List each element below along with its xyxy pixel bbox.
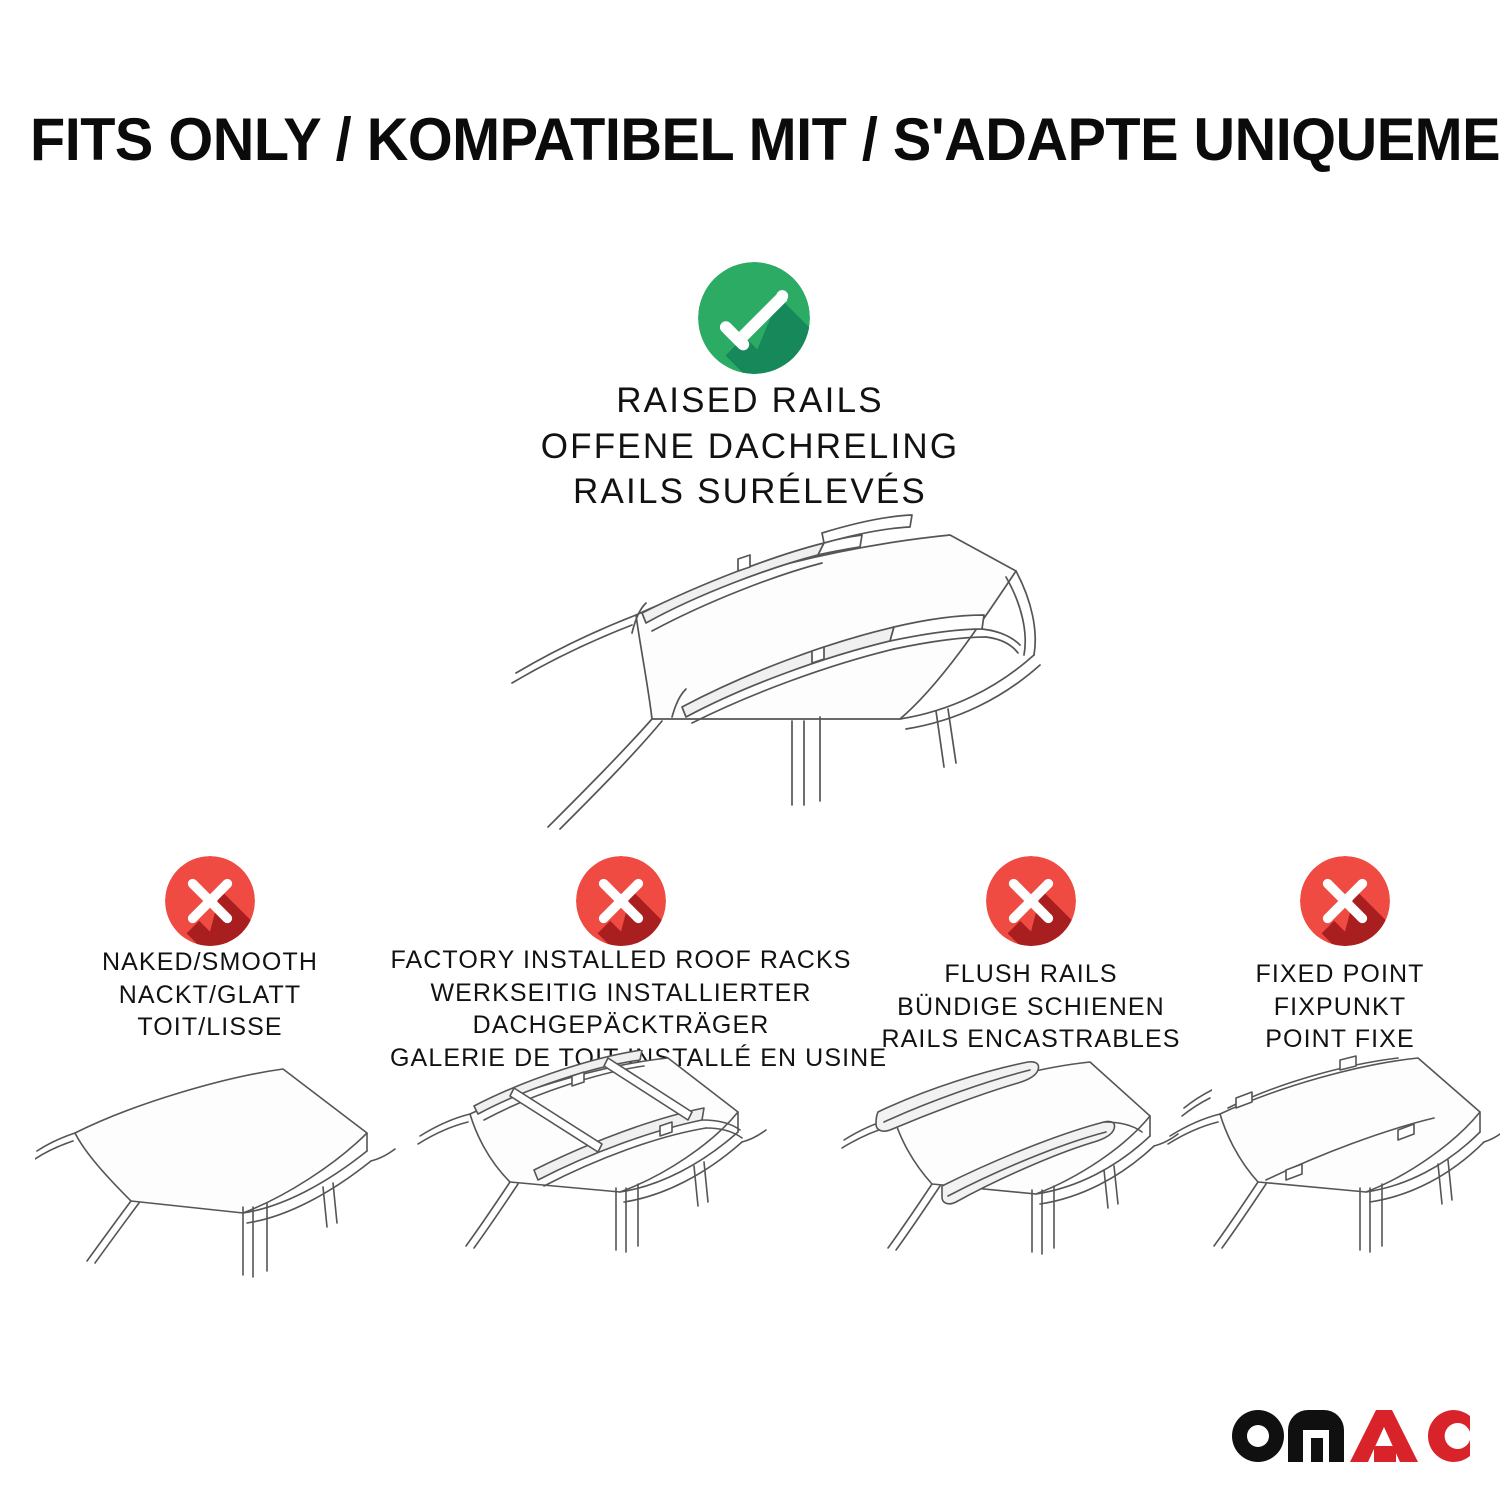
check-circle-icon — [698, 262, 810, 374]
caption-line: FLUSH RAILS — [840, 958, 1222, 991]
flush-rails-roof-illustration — [832, 1052, 1212, 1284]
compatible-caption: RAISED RAILS OFFENE DACHRELING RAILS SUR… — [0, 378, 1500, 515]
cross-circle-icon — [576, 856, 666, 946]
naked-smooth-caption: NAKED/SMOOTH NACKT/GLATT TOIT/LISSE — [20, 946, 400, 1044]
naked-smooth-roof-illustration — [35, 1055, 405, 1285]
caption-line: FIXPUNKT — [1180, 991, 1500, 1024]
cross-circle-icon — [1300, 856, 1390, 946]
caption-line: POINT FIXE — [1180, 1023, 1500, 1056]
caption-line: TOIT/LISSE — [20, 1011, 400, 1044]
factory-roof-rack-illustration — [402, 1050, 782, 1285]
caption-line: FACTORY INSTALLED ROOF RACKS — [390, 944, 852, 977]
raised-rails-roof-illustration — [420, 505, 1090, 835]
caption-line: NAKED/SMOOTH — [20, 946, 400, 979]
caption-line: BÜNDIGE SCHIENEN — [840, 991, 1222, 1024]
omac-logo — [1232, 1404, 1470, 1476]
page-title: FITS ONLY / KOMPATIBEL MIT / S'ADAPTE UN… — [30, 108, 1470, 171]
flush-rails-caption: FLUSH RAILS BÜNDIGE SCHIENEN RAILS ENCAS… — [840, 958, 1222, 1056]
caption-line: NACKT/GLATT — [20, 979, 400, 1012]
fixed-point-roof-illustration — [1162, 1052, 1500, 1284]
caption-line: WERKSEITIG INSTALLIERTER — [390, 977, 852, 1010]
caption-line: FIXED POINT — [1180, 958, 1500, 991]
caption-line: OFFENE DACHRELING — [0, 424, 1500, 470]
cross-circle-icon — [986, 856, 1076, 946]
caption-line: RAILS ENCASTRABLES — [840, 1023, 1222, 1056]
cross-circle-icon — [165, 856, 255, 946]
fixed-point-caption: FIXED POINT FIXPUNKT POINT FIXE — [1180, 958, 1500, 1056]
caption-line: DACHGEPÄCKTRÄGER — [390, 1009, 852, 1042]
caption-line: RAISED RAILS — [0, 378, 1500, 424]
